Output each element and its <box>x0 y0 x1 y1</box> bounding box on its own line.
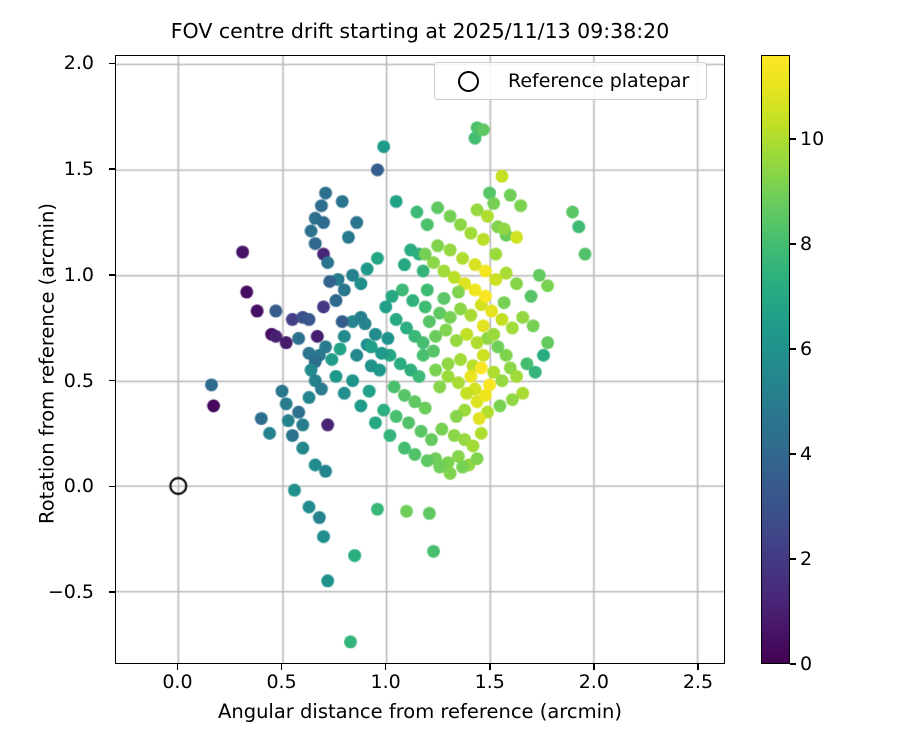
y-tick-mark <box>109 380 115 382</box>
legend[interactable]: Reference platepar <box>434 62 707 100</box>
plot-axes <box>115 55 725 664</box>
figure-root: FOV centre drift starting at 2025/11/13 … <box>0 0 900 750</box>
reference-platepar-marker-icon <box>458 71 479 92</box>
colorbar-tick-mark <box>790 348 796 350</box>
colorbar-tick-label: 10 <box>800 128 824 150</box>
x-tick-mark <box>177 664 179 670</box>
colorbar: 0246810 <box>761 55 790 664</box>
colorbar-tick-mark <box>790 243 796 245</box>
y-tick-mark <box>109 63 115 65</box>
x-tick-mark <box>489 664 491 670</box>
x-tick-mark <box>281 664 283 670</box>
page-title: FOV centre drift starting at 2025/11/13 … <box>115 18 725 44</box>
colorbar-tick-label: 4 <box>800 443 812 465</box>
y-tick-mark <box>109 274 115 276</box>
x-tick-label: 0.5 <box>266 671 296 693</box>
y-tick-label: 1.5 <box>64 158 94 180</box>
y-tick-label: 0.0 <box>64 475 94 497</box>
colorbar-gradient <box>761 55 790 664</box>
x-tick-label: 1.5 <box>475 671 505 693</box>
x-axis-label: Angular distance from reference (arcmin) <box>115 700 725 723</box>
colorbar-tick-label: 8 <box>800 233 812 255</box>
x-tick-label: 0.0 <box>162 671 192 693</box>
colorbar-tick-mark <box>790 558 796 560</box>
x-tick-mark <box>697 664 699 670</box>
y-tick-label: −0.5 <box>48 581 94 603</box>
colorbar-tick-mark <box>790 453 796 455</box>
colorbar-tick-mark <box>790 663 796 665</box>
x-tick-label: 2.0 <box>579 671 609 693</box>
x-tick-label: 1.0 <box>371 671 401 693</box>
colorbar-tick-mark <box>790 138 796 140</box>
y-tick-mark <box>109 591 115 593</box>
y-axis-label: Rotation from reference (arcmin) <box>36 59 59 669</box>
x-tick-mark <box>385 664 387 670</box>
colorbar-tick-label: 0 <box>800 653 812 675</box>
y-tick-label: 2.0 <box>64 52 94 74</box>
x-tick-label: 2.5 <box>683 671 713 693</box>
y-tick-label: 0.5 <box>64 370 94 392</box>
colorbar-tick-label: 6 <box>800 338 812 360</box>
y-tick-mark <box>109 168 115 170</box>
y-tick-mark <box>109 486 115 488</box>
legend-entry-label: Reference platepar <box>508 70 695 92</box>
scatter-plot-canvas <box>116 56 724 663</box>
y-tick-label: 1.0 <box>64 264 94 286</box>
colorbar-tick-label: 2 <box>800 548 812 570</box>
x-tick-mark <box>593 664 595 670</box>
